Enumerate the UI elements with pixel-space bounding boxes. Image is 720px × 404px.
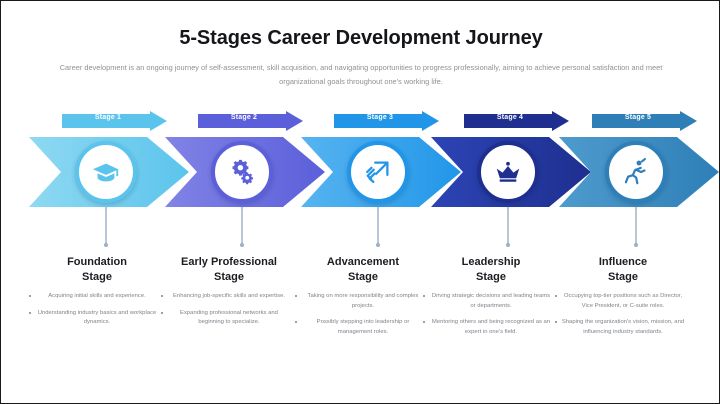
stage-connector-line-1	[105, 207, 107, 245]
stage-badge-label-2: Stage 2	[198, 114, 290, 121]
stage-name-line2-5: Stage	[557, 270, 689, 285]
stage-bullet-item: Shaping the organization's vision, missi…	[557, 318, 689, 337]
stage-name-2: Early ProfessionalStage	[163, 255, 295, 285]
stage-bullet-text: Taking on more responsibility and comple…	[308, 293, 419, 309]
stage-bullet-text: Understanding industry basics and workpl…	[38, 310, 157, 326]
stage-bullet-text: Expanding professional networks and begi…	[180, 310, 278, 326]
stage-bullet-text: Shaping the organization's vision, missi…	[562, 319, 684, 335]
stage-name-line1-3: Advancement	[297, 255, 429, 270]
stage-bullet-text: Mentoring others and being recognized as…	[432, 319, 550, 335]
stage-badge-label-3: Stage 3	[334, 114, 426, 121]
gears-icon	[227, 157, 257, 187]
stage-name-line2-1: Stage	[31, 270, 163, 285]
stage-bullet-item: Expanding professional networks and begi…	[163, 309, 295, 328]
stage-bullet-item: Occupying top-tier positions such as Dir…	[557, 292, 689, 311]
stage-bullet-item: Enhancing job-specific skills and expert…	[163, 292, 295, 302]
stage-name-4: LeadershipStage	[425, 255, 557, 285]
stage-text-column-4: LeadershipStageDriving strategic decisio…	[425, 255, 557, 344]
stage-text-column-5: InfluenceStageOccupying top-tier positio…	[557, 255, 689, 344]
stage-arrow-band: Stage 1 Stage 2 Stage 3	[1, 109, 720, 221]
bullet-dot-icon	[161, 295, 163, 297]
stage-icon-circle-3[interactable]	[347, 141, 409, 203]
stage-connector-line-2	[241, 207, 243, 245]
stage-bullet-list-5: Occupying top-tier positions such as Dir…	[557, 292, 689, 337]
stage-bullet-text: Occupying top-tier positions such as Dir…	[564, 293, 682, 309]
page-title: 5-Stages Career Development Journey	[1, 27, 720, 50]
stage-connector-dot-5	[634, 243, 638, 247]
stage-icon-circle-1[interactable]	[75, 141, 137, 203]
stage-bullet-item: Understanding industry basics and workpl…	[31, 309, 163, 328]
bullet-dot-icon	[423, 295, 425, 297]
stage-bullet-list-1: Acquiring initial skills and experience.…	[31, 292, 163, 328]
stage-connector-line-4	[507, 207, 509, 245]
stage-text-column-3: AdvancementStageTaking on more responsib…	[297, 255, 429, 344]
stage-icon-circle-4[interactable]	[477, 141, 539, 203]
stage-name-1: FoundationStage	[31, 255, 163, 285]
stage-arrow-group-5[interactable]: Stage 5	[559, 109, 720, 221]
stage-name-line1-4: Leadership	[425, 255, 557, 270]
stage-connector-line-5	[635, 207, 637, 245]
crown-icon	[493, 157, 523, 187]
stage-connector-dot-2	[240, 243, 244, 247]
stage-name-5: InfluenceStage	[557, 255, 689, 285]
graduation-cap-icon	[91, 157, 121, 187]
stage-name-line2-2: Stage	[163, 270, 295, 285]
stage-text-column-2: Early ProfessionalStageEnhancing job-spe…	[163, 255, 295, 335]
stage-bullet-text: Acquiring initial skills and experience.	[48, 293, 146, 299]
stage-connector-dot-4	[506, 243, 510, 247]
stage-badge-label-4: Stage 4	[464, 114, 556, 121]
stage-bullet-list-3: Taking on more responsibility and comple…	[297, 292, 429, 337]
stage-connector-dot-1	[104, 243, 108, 247]
stage-bullet-text: Enhancing job-specific skills and expert…	[173, 293, 285, 299]
stage-text-column-1: FoundationStageAcquiring initial skills …	[31, 255, 163, 335]
stage-badge-label-5: Stage 5	[592, 114, 684, 121]
stage-bullet-text: Driving strategic decisions and leading …	[432, 293, 550, 309]
stage-name-line1-2: Early Professional	[163, 255, 295, 270]
stage-bullet-item: Possibly stepping into leadership or man…	[297, 318, 429, 337]
bullet-dot-icon	[295, 295, 297, 297]
stage-name-line1-1: Foundation	[31, 255, 163, 270]
stage-badge-label-1: Stage 1	[62, 114, 154, 121]
bullet-dot-icon	[161, 312, 163, 314]
stage-bullet-text: Possibly stepping into leadership or man…	[317, 319, 410, 335]
infographic-canvas: 5-Stages Career Development Journey Care…	[0, 0, 720, 404]
bullet-dot-icon	[555, 295, 557, 297]
stage-name-line1-5: Influence	[557, 255, 689, 270]
bullet-dot-icon	[29, 295, 31, 297]
stage-bullet-item: Driving strategic decisions and leading …	[425, 292, 557, 311]
bullet-dot-icon	[423, 321, 425, 323]
stage-name-3: AdvancementStage	[297, 255, 429, 285]
climbing-arrow-icon	[363, 157, 393, 187]
stage-bullet-item: Mentoring others and being recognized as…	[425, 318, 557, 337]
stage-bullet-list-4: Driving strategic decisions and leading …	[425, 292, 557, 337]
stage-bullet-list-2: Enhancing job-specific skills and expert…	[163, 292, 295, 328]
stage-connector-line-3	[377, 207, 379, 245]
stage-icon-circle-2[interactable]	[211, 141, 273, 203]
stage-bullet-item: Acquiring initial skills and experience.	[31, 292, 163, 302]
bullet-dot-icon	[295, 321, 297, 323]
running-person-icon	[621, 157, 651, 187]
stage-icon-circle-5[interactable]	[605, 141, 667, 203]
stage-bullet-item: Taking on more responsibility and comple…	[297, 292, 429, 311]
page-subtitle: Career development is an ongoing journey…	[47, 61, 675, 88]
bullet-dot-icon	[555, 321, 557, 323]
stage-connector-dot-3	[376, 243, 380, 247]
bullet-dot-icon	[29, 312, 31, 314]
stage-name-line2-4: Stage	[425, 270, 557, 285]
stage-name-line2-3: Stage	[297, 270, 429, 285]
